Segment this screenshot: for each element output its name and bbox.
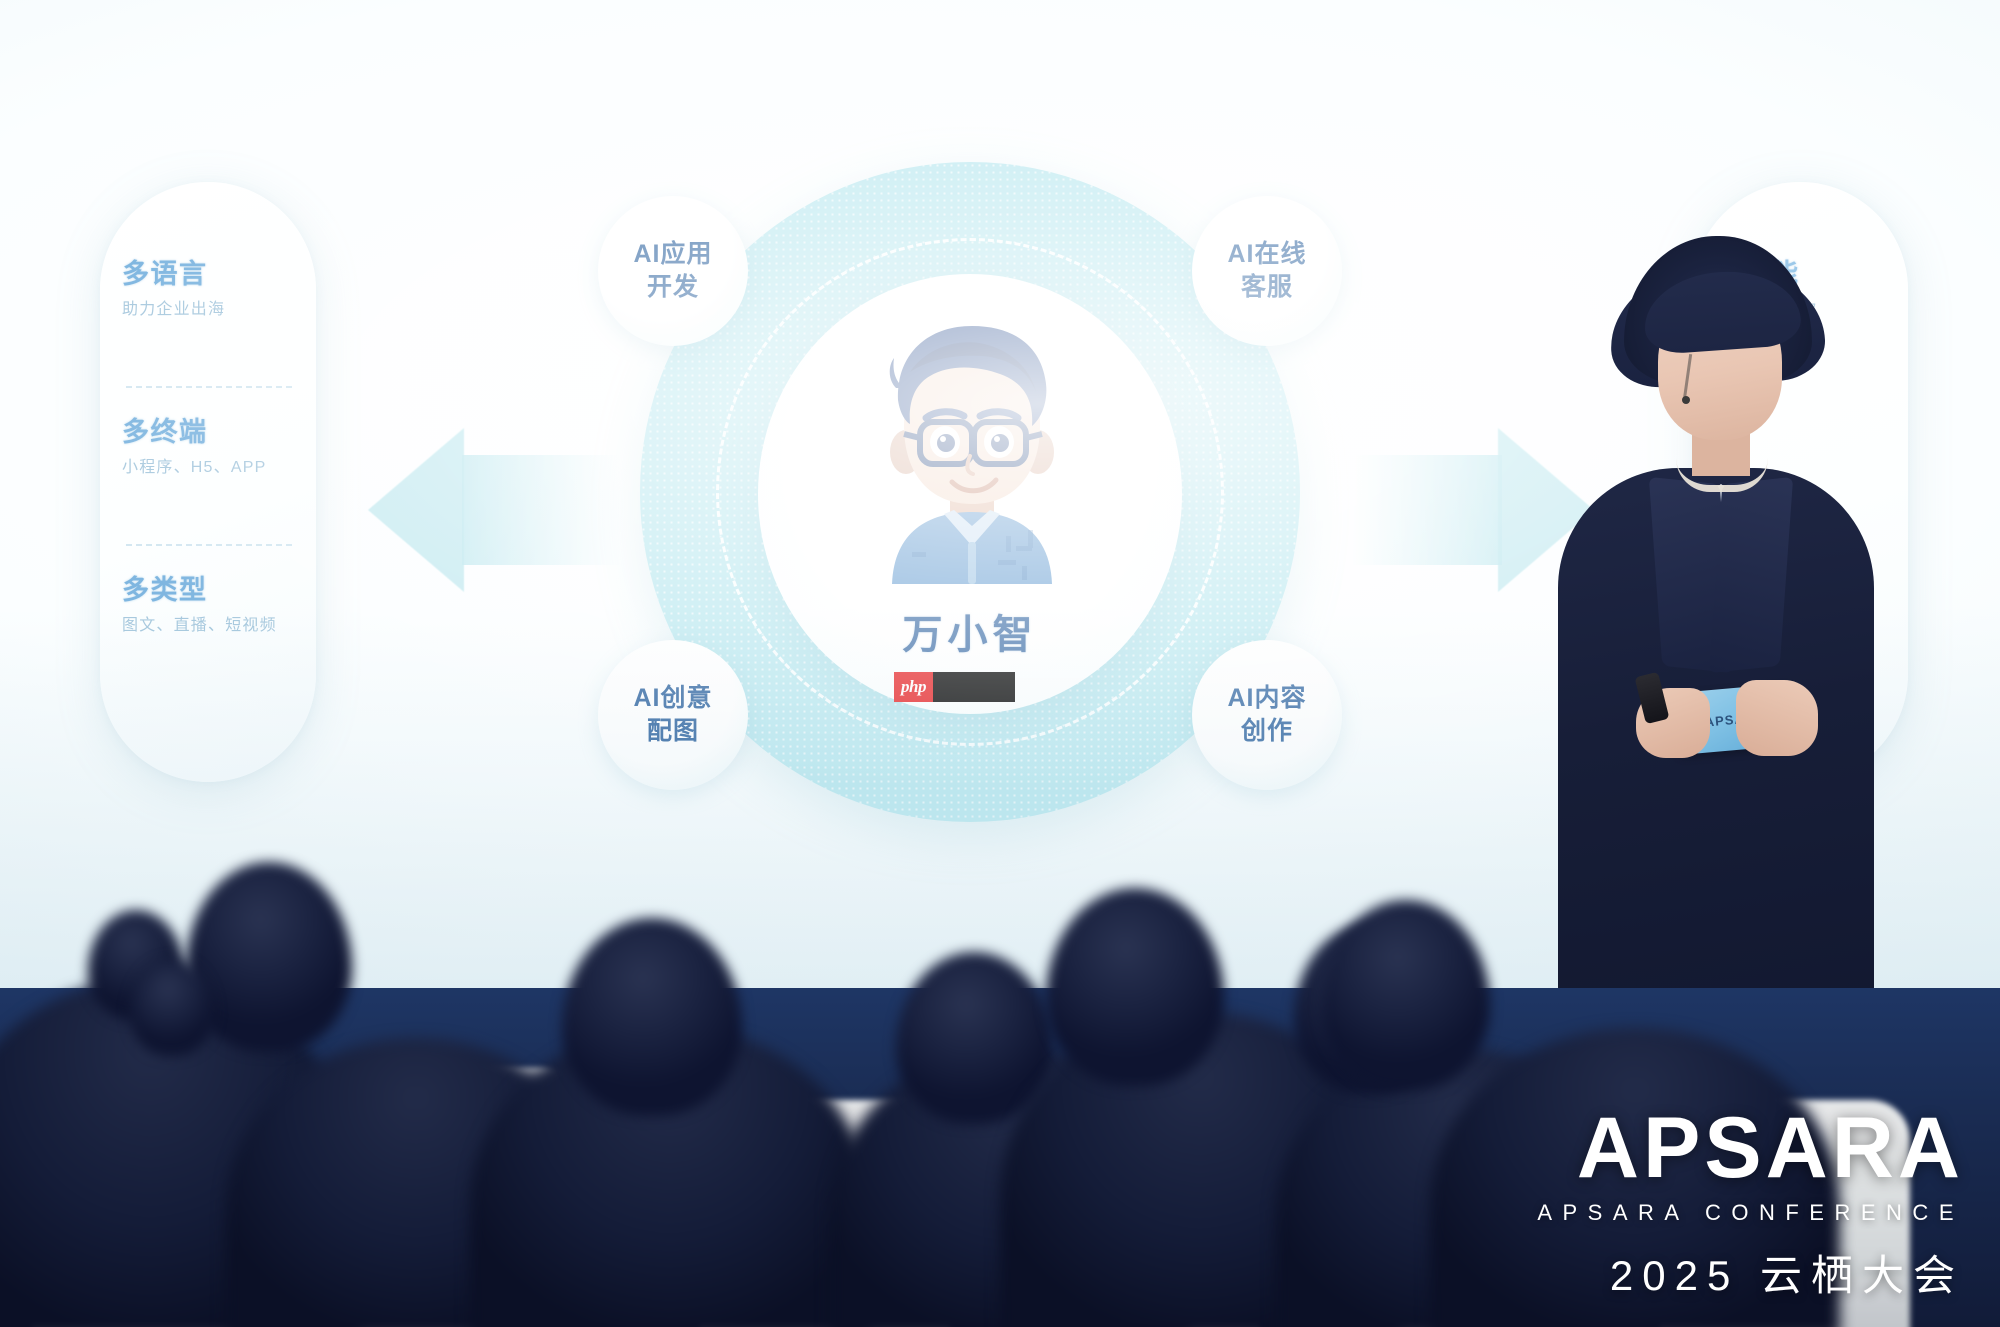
arrow-left-tail [462, 455, 620, 565]
screenshot-root: 多语言 助力企业出海 多终端 小程序、H5、APP 多类型 图文、直播、短视频 … [0, 0, 2000, 1327]
node-line-2: 配图 [647, 715, 699, 748]
feature-subtitle: 助力企业出海 [122, 300, 316, 319]
watermark-redaction-block [933, 672, 1015, 702]
feature-item-multitype: 多类型 图文、直播、短视频 [100, 576, 316, 635]
node-line-1: AI创意 [633, 682, 712, 715]
feature-subtitle: 图文、直播、短视频 [122, 616, 316, 635]
speaker-hand-right [1736, 680, 1818, 756]
audience-head [1046, 888, 1224, 1086]
feature-subtitle: 小程序、H5、APP [122, 458, 316, 477]
feature-item-multilingual: 多语言 助力企业出海 [100, 260, 316, 319]
audience-head [1322, 900, 1490, 1090]
hub-node-ai-content-creation[interactable]: AI内容 创作 [1192, 640, 1342, 790]
arrow-left-icon [368, 428, 464, 592]
hub-node-ai-creative-image[interactable]: AI创意 配图 [598, 640, 748, 790]
hub-node-ai-online-service[interactable]: AI在线 客服 [1192, 196, 1342, 346]
audience-head [130, 960, 214, 1056]
audience-head [896, 952, 1052, 1124]
center-hub-diagram: 万小智 php AI应用 开发 AI在线 客服 AI创意 配图 AI内容 创作 [640, 162, 1300, 822]
logo-wordmark: APSARA [1537, 1108, 1964, 1190]
audience-head [562, 918, 742, 1116]
speaker-microphone-icon [1682, 396, 1690, 404]
logo-year-line: 2025 云栖大会 [1537, 1242, 1964, 1303]
node-line-2: 创作 [1241, 715, 1293, 748]
node-line-2: 客服 [1241, 271, 1293, 304]
watermark-label: php [894, 672, 933, 702]
feature-title: 多语言 [122, 260, 316, 290]
node-line-1: AI在线 [1227, 238, 1306, 271]
node-line-1: AI应用 [633, 238, 712, 271]
apsara-logo: APSARA APSARA CONFERENCE 2025 云栖大会 [1537, 1108, 1964, 1303]
php-watermark: php [894, 672, 1015, 702]
feature-title: 多类型 [122, 576, 316, 606]
hub-center-name: 万小智 [640, 602, 1300, 660]
feature-divider [126, 544, 292, 546]
feature-divider [126, 386, 292, 388]
arrow-right-tail [1352, 455, 1502, 565]
node-line-2: 开发 [647, 271, 699, 304]
logo-subtitle: APSARA CONFERENCE [1537, 1200, 1964, 1226]
feature-item-multiterminal: 多终端 小程序、H5、APP [100, 418, 316, 477]
node-line-1: AI内容 [1227, 682, 1306, 715]
speaker-lapel-right [1709, 477, 1793, 673]
avatar-illustration-icon [832, 314, 1112, 584]
hub-node-ai-app-dev[interactable]: AI应用 开发 [598, 196, 748, 346]
feature-title: 多终端 [122, 418, 316, 448]
left-feature-card: 多语言 助力企业出海 多终端 小程序、H5、APP 多类型 图文、直播、短视频 [100, 182, 316, 782]
